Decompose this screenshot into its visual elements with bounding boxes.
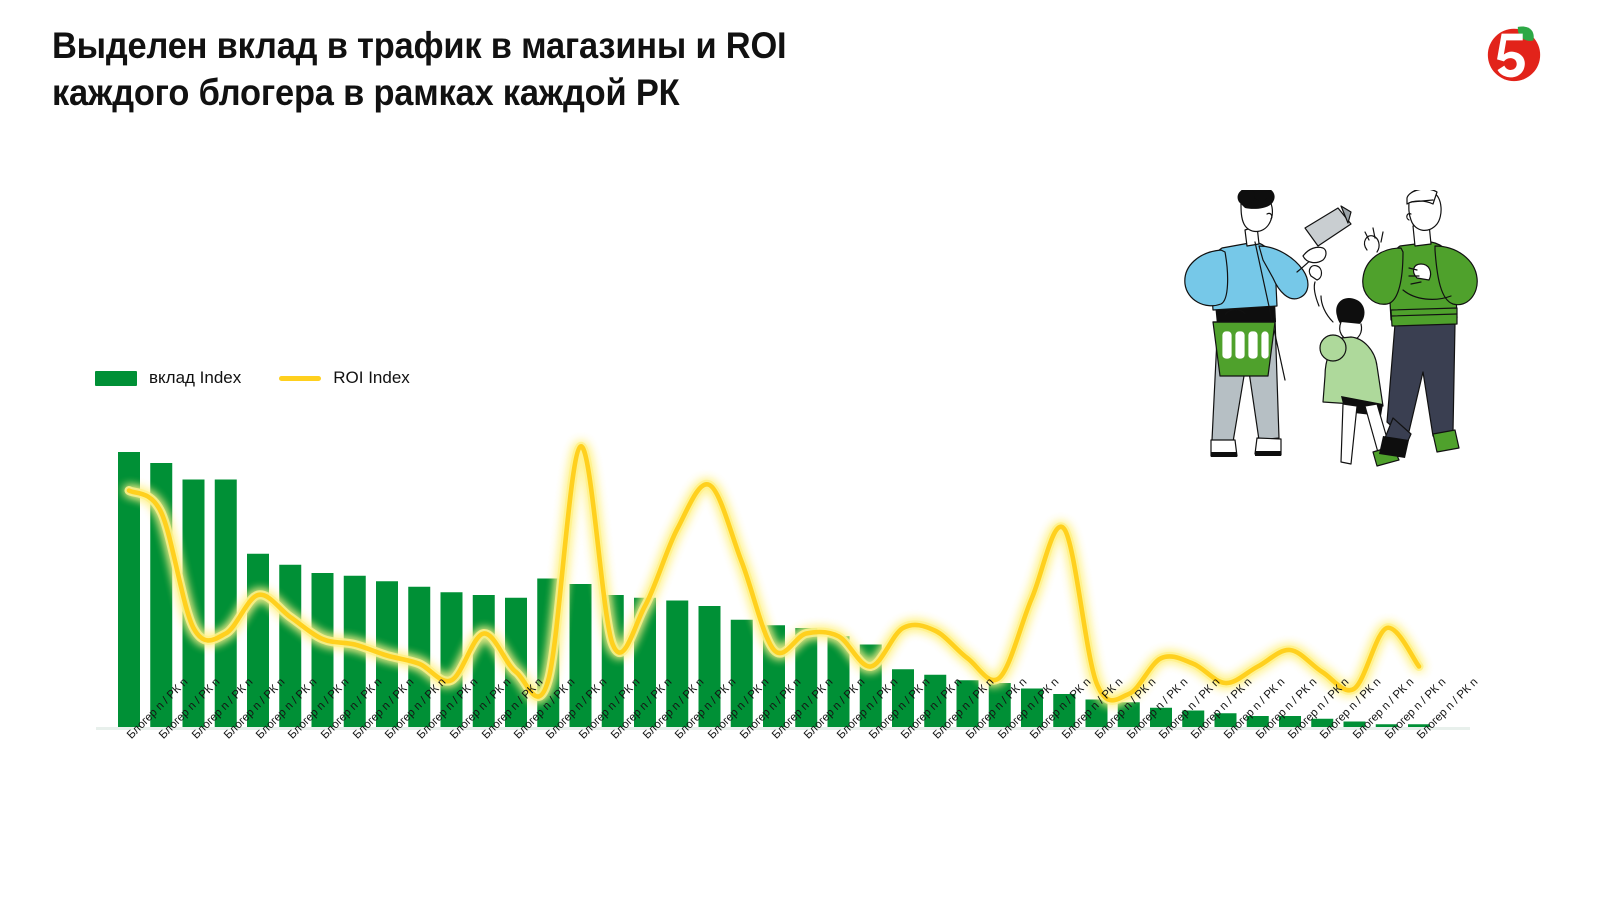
chart-x-axis-labels: Блогер n / РК nБлогер n / РК nБлогер n /… [0,733,1600,873]
slide-root: Выделен вклад в трафик в магазины и ROI … [0,0,1600,900]
chart-container: Вклад в траффик Блогер n / РК nБлогер n … [0,0,1600,900]
